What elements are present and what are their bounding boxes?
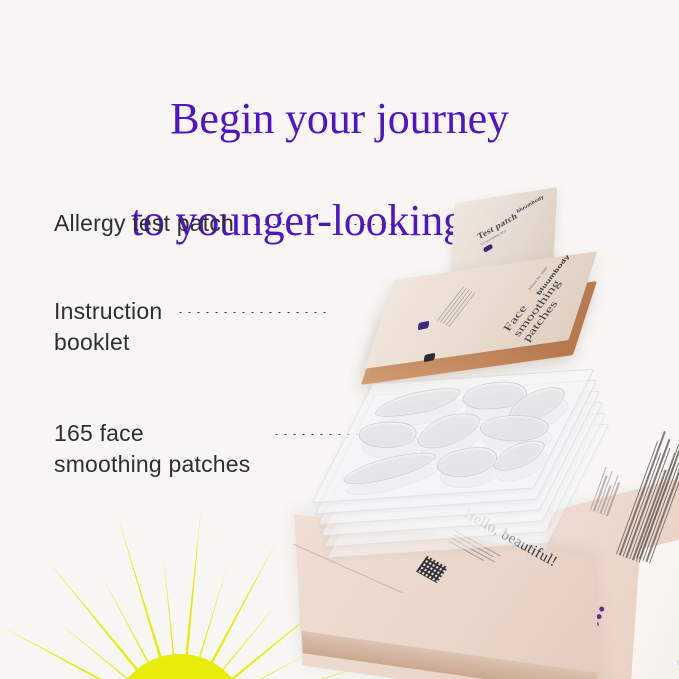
sachet-logo-mark (483, 244, 493, 253)
face-patch-shape (351, 419, 425, 451)
booklet-title-label: Face smoothing patches (501, 273, 572, 343)
feature-row-instruction-booklet: Instruction booklet (54, 296, 326, 358)
face-patch-shape (340, 447, 439, 490)
feature-label-wrap: 165 face smoothing patches (54, 418, 250, 480)
image-canvas: Begin your journey to younger-looking sk… (0, 0, 679, 679)
booklet-body-lines (437, 287, 477, 328)
feature-label-patches-line-2: smoothing patches (54, 449, 250, 480)
feature-label-booklet-line-2: booklet (54, 327, 162, 358)
face-patch-shape (413, 409, 485, 452)
face-patch-shape (429, 447, 504, 477)
face-patch-shape (491, 436, 548, 475)
sachet-brand-label: bluumbody (516, 194, 545, 214)
feature-label-wrap: Allergy test patch (54, 208, 234, 239)
feature-label-patches-line-1: 165 face (54, 418, 250, 449)
instruction-booklet-closed: bluumbody How to use Face smoothing patc… (364, 262, 604, 387)
face-patch-shape (472, 413, 556, 444)
product-photo-group: bluumbody Test patch for sensitivity tes… (300, 180, 679, 679)
headline-line-1: Begin your journey (0, 93, 679, 144)
feature-label-wrap: Instruction booklet (54, 296, 162, 358)
feature-label-allergy: Allergy test patch (54, 208, 234, 239)
feature-label-booklet-line-1: Instruction (54, 296, 162, 327)
